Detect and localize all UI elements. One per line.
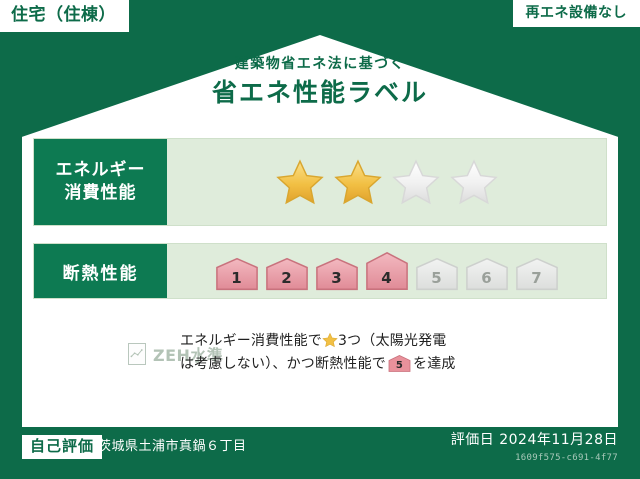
energy-label-line1: エネルギー	[56, 159, 146, 182]
insulation-level-number: 2	[265, 271, 309, 286]
energy-consumption-row: エネルギー 消費性能	[33, 138, 607, 226]
badge-building-type: 住宅（住棟）	[0, 0, 129, 32]
insulation-level-scale: 1234567	[215, 251, 559, 291]
badge-self-evaluation: 自己評価	[22, 435, 102, 459]
footer-bar: 自己評価 茨城県土浦市真鍋６丁目 評価日 2024年11月28日 1609f57…	[0, 427, 640, 479]
note-section: ZEH水準 エネルギー消費性能で3つ（太陽光発電は考慮しない）、かつ断熱性能で5…	[33, 330, 607, 376]
star-empty-icon	[448, 157, 500, 207]
insulation-level-1: 1	[215, 257, 259, 291]
star-rating	[274, 157, 500, 207]
property-address: 茨城県土浦市真鍋６丁目	[98, 440, 247, 453]
note-text-part2: 3つ（太陽光発電	[338, 333, 447, 349]
label-title: 建築物省エネ法に基づく 省エネ性能ラベル	[0, 57, 640, 105]
insulation-performance-row: 断熱性能 1234567	[33, 243, 607, 299]
inline-house-badge: 5	[388, 355, 411, 372]
note-text-part1: エネルギー消費性能で	[180, 333, 322, 349]
insulation-performance-label: 断熱性能	[34, 244, 167, 298]
star-filled-icon	[332, 157, 384, 207]
zeh-icon	[128, 343, 146, 365]
energy-label-line2: 消費性能	[65, 182, 137, 205]
inline-star-icon	[322, 332, 338, 348]
star-filled-icon	[274, 157, 326, 207]
energy-performance-label: 住宅（住棟） 再エネ設備なし 建築物省エネ法に基づく 省エネ性能ラベル エネルギ…	[0, 0, 640, 479]
insulation-level-3: 3	[315, 257, 359, 291]
insulation-level-number: 1	[215, 271, 259, 286]
zeh-standard-mark: ZEH水準	[33, 330, 168, 366]
insulation-performance-value: 1234567	[167, 244, 606, 298]
insulation-level-number: 5	[415, 271, 459, 286]
inline-house-number: 5	[388, 361, 411, 371]
title-main: 省エネ性能ラベル	[0, 80, 640, 105]
insulation-level-number: 3	[315, 271, 359, 286]
insulation-level-5: 5	[415, 257, 459, 291]
badge-renewable-energy: 再エネ設備なし	[513, 0, 640, 27]
insulation-level-number: 7	[515, 271, 559, 286]
insulation-level-7: 7	[515, 257, 559, 291]
note-text-part4: を達成	[413, 356, 456, 372]
evaluation-code: 1609f575-c691-4f77	[515, 454, 618, 463]
insulation-level-number: 4	[365, 271, 409, 286]
insulation-level-2: 2	[265, 257, 309, 291]
insulation-level-6: 6	[465, 257, 509, 291]
energy-consumption-value	[167, 139, 606, 225]
insulation-level-4: 4	[365, 251, 409, 291]
note-text-part3: は考慮しない）、かつ断熱性能で	[180, 356, 386, 372]
star-empty-icon	[390, 157, 442, 207]
evaluation-date: 評価日 2024年11月28日	[451, 433, 618, 447]
insulation-level-number: 6	[465, 271, 509, 286]
achievement-description: エネルギー消費性能で3つ（太陽光発電は考慮しない）、かつ断熱性能で5を達成	[168, 330, 607, 376]
energy-consumption-label: エネルギー 消費性能	[34, 139, 167, 225]
title-subtitle: 建築物省エネ法に基づく	[0, 57, 640, 71]
